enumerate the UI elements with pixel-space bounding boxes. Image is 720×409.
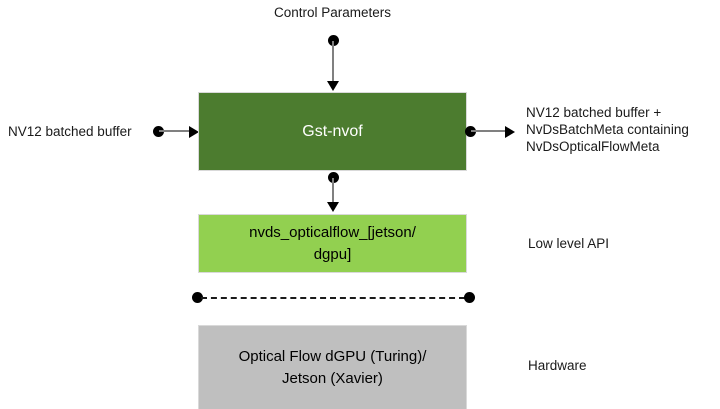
output-buffer-label: NV12 batched buffer + NvDsBatchMeta cont… [526, 104, 689, 155]
block-nvds-opticalflow-label: nvds_opticalflow_[jetson/ dgpu] [243, 222, 422, 266]
low-level-api-label: Low level API [528, 235, 609, 252]
block-nvds-opticalflow: nvds_opticalflow_[jetson/ dgpu] [198, 214, 467, 273]
control-parameters-arrowhead-icon [327, 81, 339, 91]
block-hardware: Optical Flow dGPU (Turing)/ Jetson (Xavi… [198, 325, 467, 409]
block-gst-nvof-label: Gst-nvof [296, 121, 368, 143]
gst-nvof-to-lowlevel-arrowhead-icon [327, 202, 339, 212]
input-buffer-label: NV12 batched buffer [8, 123, 132, 140]
dashed-connector-right-dot [464, 292, 475, 303]
input-connector-line [159, 130, 191, 132]
gst-nvof-to-lowlevel-connector-line [332, 178, 334, 204]
control-parameters-connector-line [332, 41, 334, 83]
block-hardware-label: Optical Flow dGPU (Turing)/ Jetson (Xavi… [233, 346, 433, 390]
output-connector-line [471, 130, 507, 132]
output-arrowhead-icon [505, 126, 515, 138]
hardware-label: Hardware [528, 357, 587, 374]
dashed-connector-line [201, 297, 465, 299]
block-gst-nvof: Gst-nvof [198, 92, 467, 171]
control-parameters-label: Control Parameters [274, 4, 391, 21]
diagram-canvas: Control Parameters NV12 batched buffer G… [0, 0, 720, 409]
